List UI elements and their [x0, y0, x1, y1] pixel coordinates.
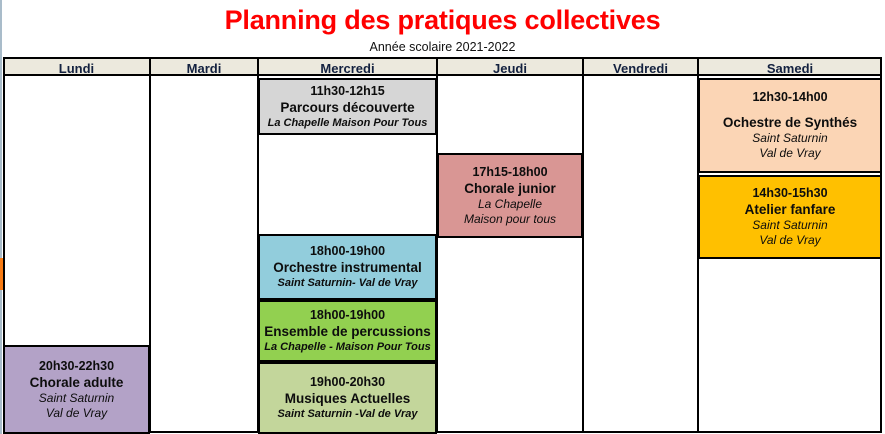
event-block-ensemble-de-percussions[interactable]: 18h00-19h00 Ensemble de percussions La C…	[258, 300, 437, 362]
event-place-line1: La Chapelle	[478, 197, 542, 212]
event-block-chorale-adulte[interactable]: 20h30-22h30 Chorale adulte Saint Saturni…	[3, 345, 150, 434]
event-place: La Chapelle Maison Pour Tous	[268, 116, 428, 130]
event-block-musiques-actuelles[interactable]: 19h00-20h30 Musiques Actuelles Saint Sat…	[258, 362, 437, 434]
event-time: 18h00-19h00	[310, 308, 385, 323]
event-block-atelier-fanfare[interactable]: 14h30-15h30 Atelier fanfare Saint Saturn…	[698, 175, 882, 259]
left-edge-rule	[0, 0, 2, 434]
event-time: 17h15-18h00	[472, 165, 547, 180]
column-header-mercredi: Mercredi	[258, 57, 437, 76]
column-header-jeudi: Jeudi	[437, 57, 583, 76]
event-time: 19h00-20h30	[310, 375, 385, 390]
page-title: Planning des pratiques collectives	[0, 1, 885, 39]
grid-line	[582, 57, 584, 433]
event-time: 14h30-15h30	[752, 186, 827, 201]
event-name: Musiques Actuelles	[285, 390, 411, 407]
event-name: Atelier fanfare	[745, 201, 836, 218]
event-block-parcours-decouverte[interactable]: 11h30-12h15 Parcours découverte La Chape…	[258, 78, 437, 135]
page-subtitle: Année scolaire 2021-2022	[0, 39, 885, 56]
column-body-vendredi	[583, 76, 698, 433]
event-place-line2: Maison pour tous	[464, 212, 556, 227]
event-time: 12h30-14h00	[752, 90, 827, 105]
event-name: Ochestre de Synthés	[723, 114, 857, 131]
event-name: Chorale junior	[464, 180, 556, 197]
event-place: Saint Saturnin -Val de Vray	[278, 407, 418, 421]
event-name: Orchestre instrumental	[273, 259, 422, 276]
event-place-line2: Val de Vray	[759, 233, 820, 248]
event-place-line2: Val de Vray	[759, 146, 820, 161]
event-block-chorale-junior[interactable]: 17h15-18h00 Chorale junior La Chapelle M…	[437, 153, 583, 238]
event-place-line1: Saint Saturnin	[752, 131, 827, 146]
column-header-mardi: Mardi	[150, 57, 258, 76]
event-place-line2: Val de Vray	[46, 406, 107, 421]
column-body-jeudi	[437, 76, 583, 433]
event-place: La Chapelle - Maison Pour Tous	[264, 340, 430, 354]
event-name: Ensemble de percussions	[264, 323, 431, 340]
event-place: Saint Saturnin- Val de Vray	[278, 276, 418, 290]
column-header-samedi: Samedi	[698, 57, 882, 76]
event-name: Chorale adulte	[30, 374, 124, 391]
event-place-line1: Saint Saturnin	[752, 218, 827, 233]
column-header-vendredi: Vendredi	[583, 57, 698, 76]
event-name: Parcours découverte	[280, 99, 414, 116]
column-body-mardi	[150, 76, 258, 433]
schedule-table: Lundi Mardi Mercredi Jeudi Vendredi Same…	[3, 57, 882, 433]
column-header-lundi: Lundi	[3, 57, 150, 76]
event-time: 18h00-19h00	[310, 244, 385, 259]
event-block-orchestre-instrumental[interactable]: 18h00-19h00 Orchestre instrumental Saint…	[258, 234, 437, 300]
event-time: 11h30-12h15	[310, 84, 384, 99]
event-place-line1: Saint Saturnin	[39, 391, 114, 406]
event-time: 20h30-22h30	[39, 359, 114, 374]
event-block-ochestre-de-synthes[interactable]: 12h30-14h00 Ochestre de Synthés Saint Sa…	[698, 78, 882, 173]
